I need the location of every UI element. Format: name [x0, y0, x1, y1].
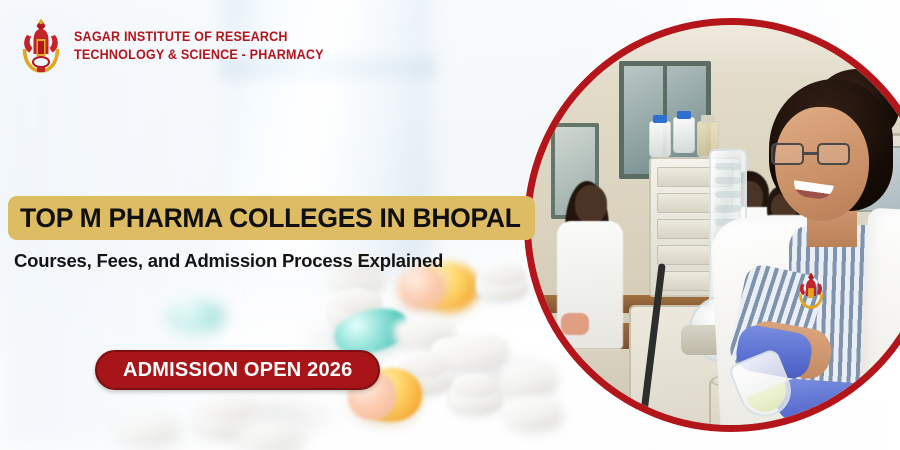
institute-name-line1: SAGAR INSTITUTE OF RESEARCH	[74, 29, 324, 45]
promo-banner: SAGAR INSTITUTE OF RESEARCH TECHNOLOGY &…	[0, 0, 900, 450]
pill-tablet	[120, 414, 178, 444]
solvent-bottle	[649, 121, 671, 157]
pill-tablet	[478, 262, 526, 286]
headline-highlight: TOP M PHARMA COLLEGES IN BHOPAL	[8, 196, 535, 240]
admission-open-label: ADMISSION OPEN 2026	[123, 359, 352, 382]
subtitle: Courses, Fees, and Admission Process Exp…	[14, 250, 443, 272]
pill-tablet	[238, 420, 302, 450]
admission-open-badge[interactable]: ADMISSION OPEN 2026	[95, 350, 380, 390]
pill-capsule-teal	[168, 300, 224, 332]
pill-tablet	[198, 396, 256, 422]
sirt-crest-logo-icon	[18, 18, 64, 74]
institute-name-line2: TECHNOLOGY & SCIENCE - PHARMACY	[74, 47, 324, 63]
brand-lockup: SAGAR INSTITUTE OF RESEARCH TECHNOLOGY &…	[18, 18, 342, 74]
pill-capsule-peach	[398, 266, 446, 310]
page-title: TOP M PHARMA COLLEGES IN BHOPAL	[20, 203, 521, 234]
coat-crest-logo	[793, 271, 829, 311]
eyeglasses-icon	[771, 143, 855, 165]
pill-tablet	[452, 374, 500, 398]
solvent-bottle	[673, 117, 695, 153]
lab-photo	[524, 18, 900, 432]
